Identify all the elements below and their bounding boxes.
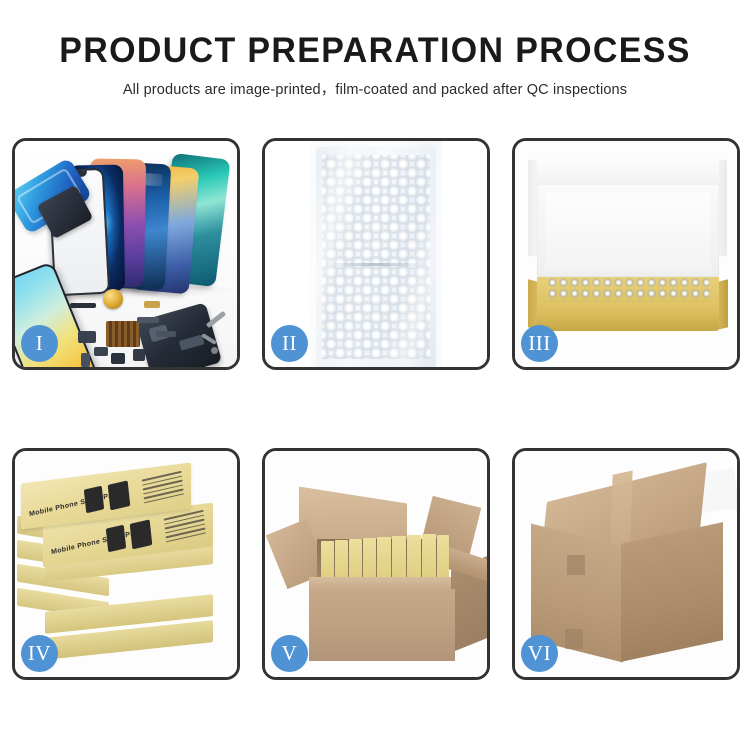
header: PRODUCT PREPARATION PROCESS All products… bbox=[0, 0, 750, 101]
spare-part-icon bbox=[144, 301, 160, 308]
phone-back-housing-icon bbox=[136, 302, 222, 367]
spare-part-icon bbox=[81, 353, 90, 367]
film-highlight bbox=[310, 141, 442, 367]
process-step-panel-3: III bbox=[512, 138, 740, 370]
carton-front-face bbox=[309, 589, 455, 661]
box-spec-lines bbox=[164, 510, 207, 546]
spare-part-icon bbox=[78, 331, 96, 343]
mailer-lid-fold bbox=[537, 155, 719, 185]
mailer-foam-insert bbox=[545, 193, 711, 271]
process-step-panel-5: V bbox=[262, 448, 490, 680]
spare-part-icon bbox=[156, 331, 176, 337]
spare-part-icon bbox=[133, 349, 145, 361]
carton-handle-notch bbox=[567, 555, 585, 575]
step-number-badge: VI bbox=[521, 635, 558, 672]
process-step-grid: I II bbox=[12, 138, 740, 680]
carton-right-face bbox=[621, 522, 723, 662]
spare-part-icon bbox=[94, 347, 108, 356]
carton-handle-notch bbox=[565, 629, 583, 649]
box-artwork-thumbnail bbox=[108, 480, 131, 510]
step-number-badge: II bbox=[271, 325, 308, 362]
step-number-badge: V bbox=[271, 635, 308, 672]
box-artwork-thumbnail bbox=[106, 525, 126, 553]
screw-part-icon bbox=[211, 347, 218, 354]
connector-grid-part-icon bbox=[106, 321, 140, 347]
spare-part-icon bbox=[111, 353, 125, 364]
mailer-tray-front bbox=[537, 303, 719, 331]
process-step-panel-6: VI bbox=[512, 448, 740, 680]
page-title: PRODUCT PREPARATION PROCESS bbox=[11, 30, 739, 72]
box-spec-lines bbox=[142, 471, 185, 507]
copper-coil-part-icon bbox=[103, 289, 123, 309]
process-step-panel-2: II bbox=[262, 138, 490, 370]
box-artwork-thumbnail bbox=[84, 486, 104, 514]
bubble-wrapped-item-in-tray bbox=[547, 277, 709, 301]
spare-part-icon bbox=[137, 317, 159, 323]
step-number-badge: IV bbox=[21, 635, 58, 672]
step-number-badge: III bbox=[521, 325, 558, 362]
page-subtitle: All products are image-printed，film-coat… bbox=[0, 79, 750, 101]
spare-part-icon bbox=[70, 303, 96, 308]
process-step-panel-4: Mobile Phone Spare Parts Mobile Phone Sp… bbox=[12, 448, 240, 680]
process-step-panel-1: I bbox=[12, 138, 240, 370]
step-number-badge: I bbox=[21, 325, 58, 362]
box-artwork-thumbnail bbox=[130, 519, 153, 549]
